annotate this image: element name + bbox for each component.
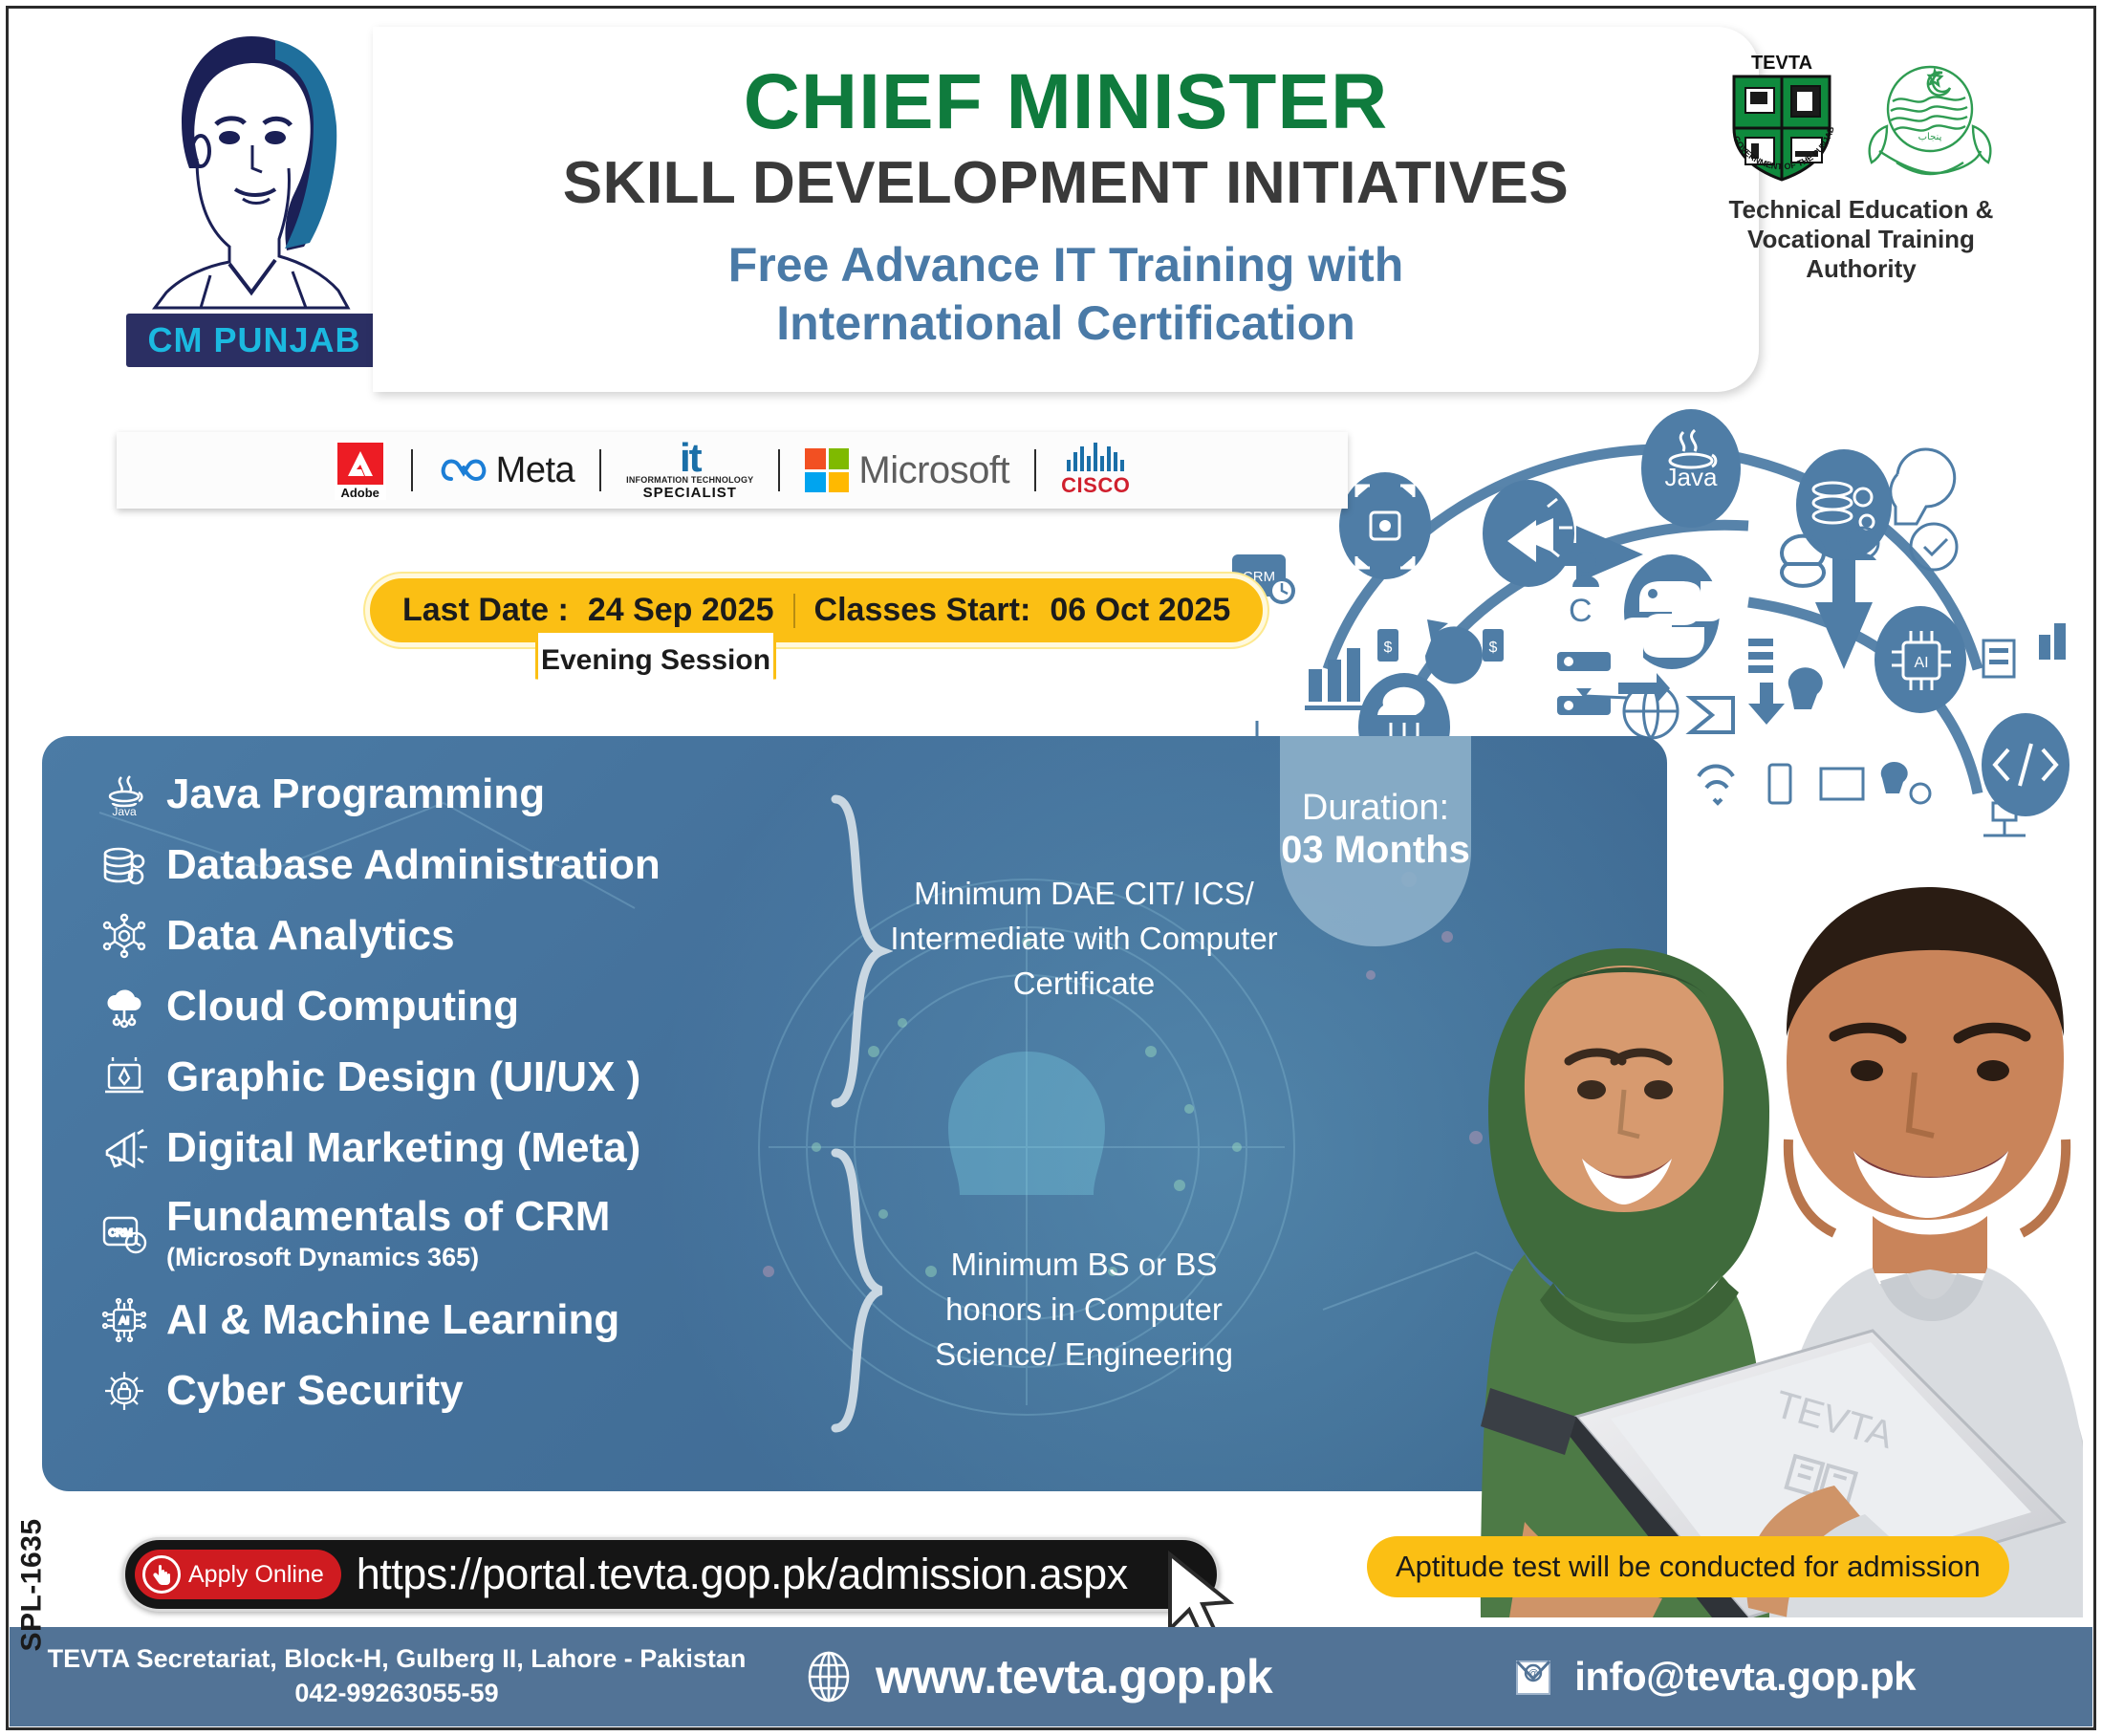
authority-caption-line-2: Vocational Training Authority (1703, 225, 2019, 284)
adobe-logo: Adobe (335, 441, 386, 500)
last-date-label: Last Date : (402, 592, 569, 629)
apply-online-bar[interactable]: Apply Online https://portal.tevta.gop.pk… (122, 1537, 1220, 1612)
logo-separator (411, 449, 413, 491)
course-title: Java Programming (166, 772, 545, 817)
classes-start-value: 06 Oct 2025 (1050, 592, 1230, 629)
microsoft-wordmark: Microsoft (858, 449, 1009, 492)
email-icon: @ (1511, 1652, 1555, 1702)
authority-caption-line-1: Technical Education & (1703, 195, 2019, 225)
course-title: Digital Marketing (Meta) (166, 1126, 640, 1171)
course-item: Graphic Design (UI/UX ) (99, 1042, 807, 1113)
authority-logos: TEVTA GOVERNMENT OF THE PUNJAB (1703, 52, 2019, 285)
course-title: Fundamentals of CRM (166, 1195, 610, 1240)
footer-address-line-2: 042-99263055-59 (10, 1677, 784, 1711)
microsoft-squares-icon (805, 448, 849, 492)
graphic-design-icon (99, 1052, 149, 1102)
svg-text:پنجاب: پنجاب (1918, 132, 1942, 142)
course-subtitle: (Microsoft Dynamics 365) (166, 1242, 610, 1272)
svg-text:$: $ (1384, 640, 1393, 656)
cm-punjab-logo: CM PUNJAB (105, 19, 392, 384)
page-title: CHIEF MINISTER (373, 63, 1759, 141)
dates-divider (793, 594, 795, 628)
svg-text:Java: Java (112, 805, 137, 817)
cm-punjab-badge: CM PUNJAB (126, 314, 382, 367)
course-title: Data Analytics (166, 914, 455, 959)
tagline-line-1: Free Advance IT Training with (373, 236, 1759, 294)
adobe-icon (337, 443, 383, 485)
footer-website[interactable]: www.tevta.gop.pk (803, 1649, 1272, 1704)
eligibility-text-primary: Minimum DAE CIT/ ICS/ Intermediate with … (883, 872, 1285, 1007)
course-item: CRM Fundamentals of CRM (Microsoft Dynam… (99, 1183, 807, 1285)
logo-separator (599, 449, 601, 491)
cm-portrait-illustration (141, 25, 361, 312)
database-icon (99, 840, 149, 890)
svg-text:TEVTA: TEVTA (1751, 53, 1812, 74)
aptitude-note-badge: Aptitude test will be conducted for admi… (1367, 1536, 2009, 1597)
poster-root: SPL-1635 (0, 0, 2102, 1736)
svg-text:@: @ (1528, 1668, 1539, 1680)
footer-email[interactable]: @ info@tevta.gop.pk (1511, 1652, 1916, 1702)
course-item: Digital Marketing (Meta) (99, 1113, 807, 1183)
crm-icon: CRM (99, 1209, 149, 1259)
courses-list: Java Java Programming Database Administr… (99, 759, 807, 1426)
cisco-logo: CISCO (1061, 443, 1130, 498)
course-item: Database Administration (99, 830, 807, 901)
eligibility-brace-bottom (826, 1147, 893, 1434)
svg-text:C: C (1569, 593, 1593, 629)
cyber-lock-icon (99, 1366, 149, 1416)
it-specialist-line-1: INFORMATION TECHNOLOGY (626, 475, 753, 485)
svg-text:AI: AI (119, 1315, 129, 1327)
footer-email-text[interactable]: info@tevta.gop.pk (1574, 1654, 1916, 1700)
course-title: AI & Machine Learning (166, 1298, 619, 1343)
page-subtitle: SKILL DEVELOPMENT INITIATIVES (373, 149, 1759, 217)
course-item: Java Java Programming (99, 759, 807, 830)
footer-address: TEVTA Secretariat, Block-H, Gulberg II, … (10, 1642, 784, 1710)
course-item: Data Analytics (99, 901, 807, 971)
footer-bar: TEVTA Secretariat, Block-H, Gulberg II, … (10, 1627, 2092, 1726)
spl-code: SPL-1635 (6, 1480, 59, 1690)
partner-logos-strip: Adobe Meta it INFORMATION TECHNOLOGY SPE… (117, 432, 1348, 509)
apply-online-chip[interactable]: Apply Online (135, 1550, 341, 1599)
meta-wordmark: Meta (496, 450, 574, 491)
meta-infinity-icon (438, 454, 489, 487)
meta-logo: Meta (438, 450, 574, 491)
dates-badge: Last Date : 24 Sep 2025 Classes Start: 0… (365, 574, 1268, 647)
it-specialist-line-2: SPECIALIST (626, 485, 753, 501)
eligibility-text-secondary: Minimum BS or BS honors in Computer Scie… (921, 1243, 1246, 1378)
course-item: AI AI & Machine Learning (99, 1285, 807, 1356)
tevta-shield-icon: TEVTA GOVERNMENT OF THE PUNJAB (1721, 52, 1843, 185)
logo-separator (778, 449, 780, 491)
hand-click-icon (142, 1555, 181, 1594)
it-specialist-logo: it INFORMATION TECHNOLOGY SPECIALIST (626, 440, 753, 502)
adobe-wordmark: Adobe (340, 486, 379, 500)
course-title: Cyber Security (166, 1369, 464, 1414)
course-title: Graphic Design (UI/UX ) (166, 1055, 640, 1100)
students-photo: TEVTA (1337, 662, 2083, 1617)
course-item: Cyber Security (99, 1356, 807, 1426)
last-date-value: 24 Sep 2025 (588, 592, 774, 629)
cisco-wordmark: CISCO (1061, 473, 1130, 498)
megaphone-icon (99, 1123, 149, 1173)
course-title: Database Administration (166, 843, 661, 888)
globe-icon (803, 1650, 855, 1703)
footer-website-text[interactable]: www.tevta.gop.pk (876, 1649, 1272, 1704)
ai-chip-icon: AI (99, 1295, 149, 1345)
course-item: Cloud Computing (99, 971, 807, 1042)
footer-address-line-1: TEVTA Secretariat, Block-H, Gulberg II, … (10, 1642, 784, 1677)
header: CM PUNJAB CHIEF MINISTER SKILL DEVELOPME… (57, 27, 2046, 392)
cm-punjab-badge-text: CM PUNJAB (147, 320, 360, 360)
microsoft-logo: Microsoft (805, 448, 1009, 492)
data-analytics-icon (99, 911, 149, 961)
dates-pill: Last Date : 24 Sep 2025 Classes Start: 0… (365, 574, 1268, 647)
classes-start-label: Classes Start: (814, 592, 1031, 629)
cloud-icon (99, 982, 149, 1031)
apply-url-text[interactable]: https://portal.tevta.gop.pk/admission.as… (357, 1550, 1128, 1599)
cisco-bars-icon (1061, 443, 1130, 471)
it-specialist-mark: it (626, 440, 753, 476)
apply-url-container[interactable]: Apply Online https://portal.tevta.gop.pk… (122, 1537, 1220, 1612)
punjab-government-emblem-icon: پنجاب (1858, 52, 2002, 185)
apply-online-label: Apply Online (188, 1561, 324, 1589)
header-title-card: CHIEF MINISTER SKILL DEVELOPMENT INITIAT… (373, 27, 1759, 392)
tagline-line-2: International Certification (373, 294, 1759, 353)
logo-separator (1034, 449, 1036, 491)
svg-text:$: $ (1489, 640, 1498, 656)
spl-code-text: SPL-1635 (16, 1518, 49, 1651)
course-title: Cloud Computing (166, 985, 519, 1030)
java-icon: Java (99, 770, 149, 819)
